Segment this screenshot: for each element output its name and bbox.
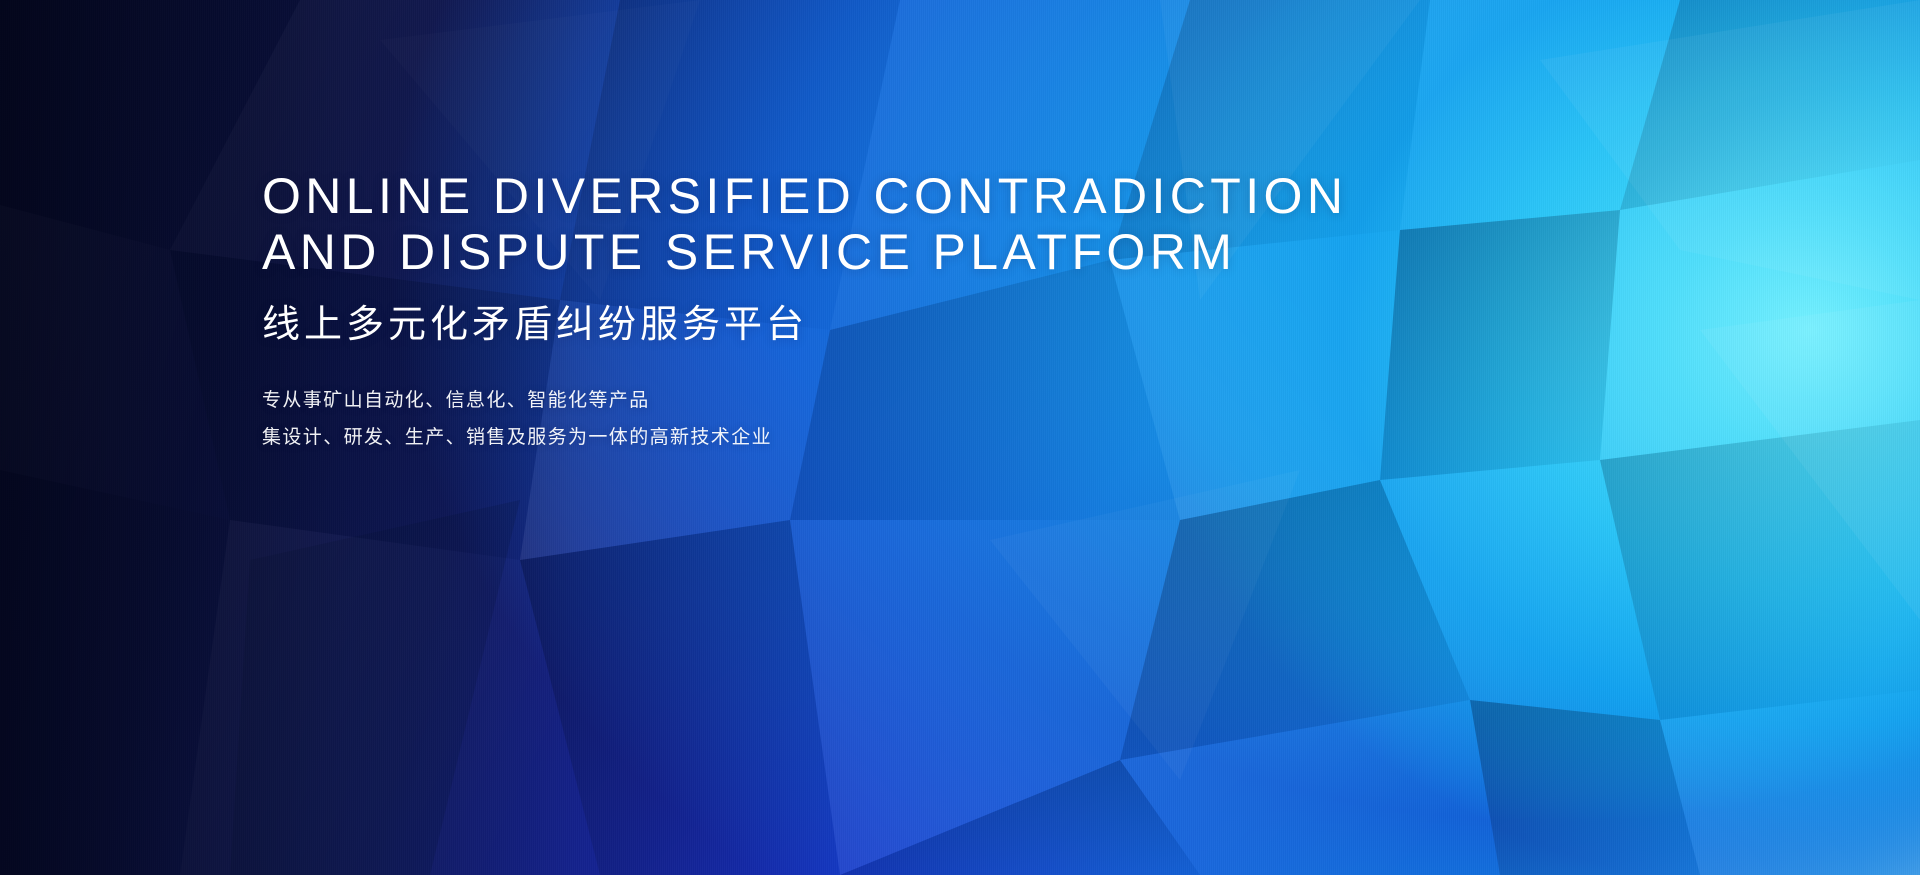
description-line-2: 集设计、研发、生产、销售及服务为一体的高新技术企业 <box>262 419 1462 456</box>
hero-content: ONLINE DIVERSIFIED CONTRADICTION AND DIS… <box>262 168 1462 456</box>
description-line-1: 专从事矿山自动化、信息化、智能化等产品 <box>262 382 1462 419</box>
page-title: ONLINE DIVERSIFIED CONTRADICTION AND DIS… <box>262 168 1462 280</box>
page-subtitle: 线上多元化矛盾纠纷服务平台 <box>262 302 1462 348</box>
description: 专从事矿山自动化、信息化、智能化等产品 集设计、研发、生产、销售及服务为一体的高… <box>262 382 1462 456</box>
hero-banner: ONLINE DIVERSIFIED CONTRADICTION AND DIS… <box>0 0 1920 875</box>
